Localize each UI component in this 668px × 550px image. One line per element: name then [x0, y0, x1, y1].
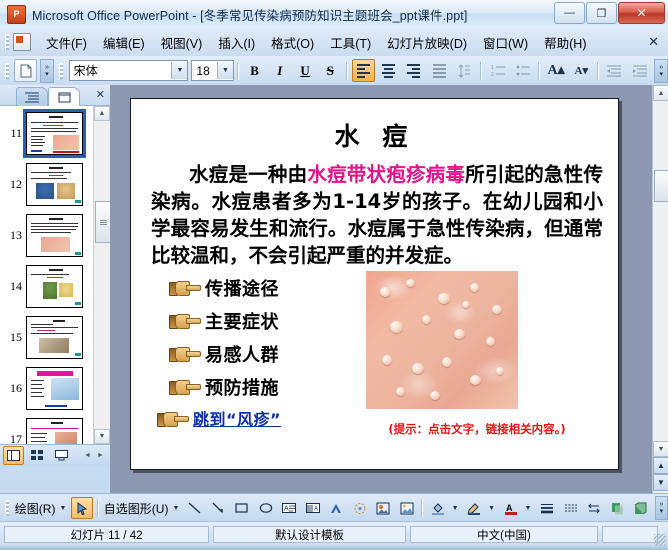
font-size-combobox[interactable]: 18 ▼	[191, 60, 234, 81]
arrow-style-tool[interactable]	[583, 497, 604, 519]
pane-scroll-up-button[interactable]: ▲	[94, 106, 110, 121]
rectangle-icon	[235, 502, 249, 514]
pane-scroll-left-button[interactable]: ◄	[81, 449, 94, 463]
wordart-icon	[329, 502, 343, 515]
drawbar-grip-handle[interactable]	[5, 500, 9, 516]
text-box-tool[interactable]: A	[278, 497, 299, 519]
insert-picture-tool[interactable]	[396, 497, 417, 519]
thumbnail-slide-15[interactable]	[26, 316, 83, 359]
line-style-tool[interactable]	[536, 497, 557, 519]
line-tool[interactable]	[184, 497, 205, 519]
slide-sorter-view-button[interactable]	[27, 446, 48, 465]
bulleted-list-icon	[516, 64, 530, 77]
vertical-text-box-icon: A	[306, 502, 320, 514]
dash-style-icon	[564, 502, 578, 514]
line-style-icon	[540, 502, 554, 514]
decrease-indent-icon	[607, 65, 621, 77]
align-right-icon	[407, 64, 420, 78]
resize-grip[interactable]	[654, 534, 666, 546]
body-text-highlight: 水痘带状疱疹病毒	[307, 163, 465, 186]
thumbnail-row[interactable]: 11	[0, 109, 92, 157]
title-bar: P Microsoft Office PowerPoint - [冬季常见传染病…	[0, 0, 668, 29]
thumbnail-number: 17	[0, 432, 26, 445]
slide-title[interactable]: 水 痘	[131, 117, 618, 153]
numbered-list-icon: 12	[491, 64, 505, 77]
thumbnail-row[interactable]: 16	[0, 364, 92, 412]
increase-font-size-button[interactable]: A▴	[544, 59, 567, 82]
thumbnail-number: 16	[0, 381, 26, 396]
align-right-button[interactable]	[402, 59, 425, 82]
window-controls: — ❐ ✕	[554, 2, 665, 24]
thumbnail-slide-16[interactable]	[26, 367, 83, 410]
decrease-font-icon: A▾	[575, 64, 588, 77]
svg-text:2: 2	[491, 72, 494, 77]
view-buttons-bar: ◄ ►	[0, 444, 110, 466]
slide-sorter-icon	[31, 450, 44, 461]
normal-view-icon	[7, 450, 20, 461]
oval-icon	[259, 502, 273, 514]
autoshapes-caret-icon[interactable]: ▼	[172, 505, 179, 512]
toolbar-separator-1	[237, 62, 239, 80]
menu-view[interactable]: 视图(V)	[154, 30, 210, 55]
bullet-list: 传播途径 主要症状 易感人群 预防措施 跳到“风疹”	[169, 271, 344, 433]
formatting-toolbar: »▾ 宋体 ▼ 18 ▼ B I U S	[0, 56, 668, 86]
clipart-icon	[376, 502, 390, 515]
toolbar-grip-handle-1[interactable]	[5, 63, 9, 79]
pointing-hand-icon	[157, 411, 187, 426]
select-arrow-tool[interactable]	[71, 497, 92, 519]
font-color-tool[interactable]: A	[500, 497, 521, 519]
toolbar-separator-3	[480, 62, 482, 80]
chickenpox-skin-photo[interactable]	[366, 271, 518, 409]
outline-tab[interactable]	[16, 87, 48, 106]
shadow-style-icon	[611, 502, 625, 515]
powerpoint-window: P Microsoft Office PowerPoint - [冬季常见传染病…	[0, 0, 668, 550]
3d-style-tool[interactable]	[630, 497, 651, 519]
menu-grip-handle[interactable]	[5, 34, 9, 50]
arrow-style-icon	[587, 502, 601, 514]
drawbar-overflow-button[interactable]: »▾	[655, 496, 668, 520]
thumbnail-slide-17[interactable]	[26, 418, 83, 445]
powerpoint-icon: P	[7, 5, 26, 24]
font-color-icon: A	[504, 502, 518, 515]
bullet-prevention[interactable]: 预防措施	[169, 370, 344, 403]
font-size-dropdown-icon[interactable]: ▼	[217, 62, 233, 79]
bullet-label: 易感人群	[205, 341, 279, 367]
close-button[interactable]: ✕	[618, 2, 665, 24]
pointing-hand-icon	[169, 313, 199, 328]
diagram-icon	[353, 502, 367, 515]
line-icon	[188, 501, 202, 515]
slide-workspace: 水 痘 水痘是一种由水痘带状疱疹病毒所引起的急性传染病。水痘患者多为1-14岁的…	[110, 85, 652, 493]
line-color-icon	[467, 502, 481, 515]
toolbar-separator-2	[346, 62, 348, 80]
align-left-icon	[357, 64, 370, 78]
menu-format[interactable]: 格式(O)	[264, 30, 321, 55]
draw-menu-button[interactable]: 绘图(R)	[13, 500, 58, 517]
bullet-label: 传播途径	[205, 275, 279, 301]
arrow-tool[interactable]	[208, 497, 229, 519]
bullet-symptoms[interactable]: 主要症状	[169, 304, 344, 337]
pointing-hand-icon	[169, 346, 199, 361]
pane-scroll-thumb[interactable]	[95, 201, 111, 243]
scroll-down-button[interactable]: ▼	[653, 441, 668, 457]
menu-insert[interactable]: 插入(I)	[211, 30, 262, 55]
align-center-icon	[382, 64, 395, 78]
bullet-transmission[interactable]: 传播途径	[169, 271, 344, 304]
bulleted-list-button[interactable]	[511, 59, 534, 82]
pane-tab-strip: ✕	[0, 85, 110, 106]
align-center-button[interactable]	[377, 59, 400, 82]
thumbnail-slide-14[interactable]	[26, 265, 83, 308]
bold-button[interactable]: B	[243, 59, 266, 82]
thumbnail-row[interactable]: 13	[0, 211, 92, 259]
slide-body-text[interactable]: 水痘是一种由水痘带状疱疹病毒所引起的急性传染病。水痘患者多为1-14岁的孩子。在…	[151, 161, 603, 269]
thumbnail-number: 11	[0, 126, 26, 141]
thumbnail-number: 13	[0, 228, 26, 243]
underline-icon: U	[300, 63, 309, 79]
outline-icon	[25, 92, 39, 103]
decrease-font-size-button[interactable]: A▾	[570, 59, 593, 82]
dash-style-tool[interactable]	[560, 497, 581, 519]
toolbar-separator-5	[597, 62, 599, 80]
status-bar: 幻灯片 11 / 42 默认设计模板 中文(中国)	[0, 521, 668, 547]
thumbnail-number: 12	[0, 177, 26, 192]
insert-clipart-tool[interactable]	[372, 497, 393, 519]
thumbnail-number: 14	[0, 279, 26, 294]
svg-text:1: 1	[491, 65, 494, 71]
close-pane-button[interactable]: ✕	[96, 88, 105, 101]
slides-icon	[58, 92, 71, 103]
underline-button[interactable]: U	[293, 59, 316, 82]
decrease-indent-button[interactable]	[603, 59, 626, 82]
pointing-hand-icon	[169, 379, 199, 394]
menu-file[interactable]: 文件(F)	[39, 30, 94, 55]
font-name-dropdown-icon[interactable]: ▼	[171, 62, 187, 79]
menu-help[interactable]: 帮助(H)	[537, 30, 593, 55]
text-box-icon: A	[282, 502, 296, 514]
window-title: Microsoft Office PowerPoint - [冬季常见传染病预防…	[32, 5, 467, 24]
slide-canvas[interactable]: 水 痘 水痘是一种由水痘带状疱疹病毒所引起的急性传染病。水痘患者多为1-14岁的…	[130, 98, 619, 470]
pane-scrollbar[interactable]: ▲ ▼	[93, 106, 110, 444]
toolbar-overflow-button-1[interactable]: »▾	[40, 59, 54, 83]
draw-menu-caret-icon[interactable]: ▼	[59, 505, 66, 512]
align-left-button[interactable]	[352, 59, 375, 82]
text-shadow-button[interactable]: S	[319, 59, 342, 82]
fill-color-icon	[431, 502, 445, 515]
toolbar-separator-4	[538, 62, 540, 80]
thumbnail-slide-11[interactable]	[26, 112, 83, 155]
justify-button[interactable]	[428, 59, 451, 82]
increase-font-icon: A▴	[547, 62, 564, 79]
window-bottom-frame	[0, 546, 668, 550]
font-name-combobox[interactable]: 宋体 ▼	[69, 60, 189, 81]
toolbar-overflow-button-2[interactable]: »▾	[654, 59, 668, 83]
fill-color-tool[interactable]	[427, 497, 448, 519]
picture-icon	[400, 502, 414, 515]
bullet-label: 主要症状	[205, 308, 279, 334]
thumbnail-number: 15	[0, 330, 26, 345]
toolbar-grip-handle-2[interactable]	[59, 63, 63, 79]
svg-text:A: A	[506, 503, 513, 513]
body-text-part1: 水痘是一种由	[189, 163, 307, 186]
menu-bar: 文件(F) 编辑(E) 视图(V) 插入(I) 格式(O) 工具(T) 幻灯片放…	[0, 28, 668, 57]
justify-icon	[433, 64, 446, 78]
oval-tool[interactable]	[255, 497, 276, 519]
scroll-up-button[interactable]: ▲	[653, 85, 668, 101]
italic-icon: I	[277, 63, 282, 79]
font-color-caret-icon[interactable]: ▼	[525, 505, 532, 512]
bullet-label: 预防措施	[205, 374, 279, 400]
bullet-susceptible[interactable]: 易感人群	[169, 337, 344, 370]
menu-window[interactable]: 窗口(W)	[476, 30, 535, 55]
slide-counter: 幻灯片 11 / 42	[4, 526, 209, 543]
slide-vertical-scrollbar[interactable]: ▲ ▼ ▲ ▼	[652, 85, 668, 493]
drawbar-separator-2	[421, 499, 423, 517]
document-icon	[13, 33, 31, 51]
font-name-value: 宋体	[70, 62, 98, 79]
drawing-toolbar: 绘图(R) ▼ 自选图形(U) ▼ A A ▼ ▼ A ▼ »▾	[0, 493, 668, 522]
close-document-button[interactable]: ✕	[648, 34, 659, 50]
line-color-tool[interactable]	[464, 497, 485, 519]
thumbnail-row[interactable]: 15	[0, 313, 92, 361]
maximize-button[interactable]: ❐	[586, 2, 617, 24]
italic-button[interactable]: I	[268, 59, 291, 82]
pointing-hand-icon	[169, 280, 199, 295]
shadow-icon: S	[327, 63, 334, 79]
previous-slide-button[interactable]: ▲	[653, 457, 668, 474]
slide-show-icon	[55, 450, 68, 461]
autoshapes-menu-button[interactable]: 自选图形(U)	[102, 500, 171, 517]
new-slide-icon[interactable]	[14, 59, 37, 82]
increase-indent-button[interactable]	[628, 59, 651, 82]
insert-wordart-tool[interactable]	[325, 497, 346, 519]
increase-indent-icon	[633, 65, 647, 77]
font-size-value: 18	[192, 64, 209, 78]
thumbnail-slide-13[interactable]	[26, 214, 83, 257]
pane-scroll-right-button[interactable]: ►	[94, 449, 107, 463]
menu-slideshow[interactable]: 幻灯片放映(D)	[380, 30, 474, 55]
thumbnail-row[interactable]: 12	[0, 160, 92, 208]
slide-show-view-button[interactable]	[51, 446, 72, 465]
pane-scroll-down-button[interactable]: ▼	[94, 429, 110, 444]
drawbar-separator-1	[97, 499, 99, 517]
threed-style-icon	[634, 502, 648, 515]
hint-text: (提示：点击文字，链接相关内容。)	[347, 421, 607, 437]
minimize-button[interactable]: —	[554, 2, 585, 24]
menu-tools[interactable]: 工具(T)	[323, 30, 378, 55]
line-spacing-button[interactable]	[453, 59, 476, 82]
fill-color-caret-icon[interactable]: ▼	[452, 505, 459, 512]
scroll-thumb[interactable]	[654, 170, 668, 202]
line-spacing-icon	[457, 64, 471, 78]
numbered-list-button[interactable]: 12	[486, 59, 509, 82]
rectangle-tool[interactable]	[231, 497, 252, 519]
spell-check-cell	[602, 526, 658, 543]
slides-pane: ✕ 11	[0, 85, 111, 465]
jump-link-label: 跳到“风疹”	[193, 406, 281, 430]
slides-tab[interactable]	[48, 87, 80, 106]
vertical-text-box-tool[interactable]: A	[302, 497, 323, 519]
thumbnail-list[interactable]: 11 12	[0, 106, 92, 444]
menu-edit[interactable]: 编辑(E)	[96, 30, 152, 55]
bold-icon: B	[250, 63, 259, 79]
line-color-caret-icon[interactable]: ▼	[488, 505, 495, 512]
cursor-arrow-icon	[77, 502, 88, 515]
normal-view-button[interactable]	[3, 446, 24, 465]
svg-text:A: A	[284, 506, 289, 513]
svg-text:A: A	[314, 507, 318, 513]
jump-to-rubella-link[interactable]: 跳到“风疹”	[157, 403, 344, 433]
language-label[interactable]: 中文(中国)	[410, 526, 598, 543]
next-slide-button[interactable]: ▼	[653, 474, 668, 491]
thumbnail-row[interactable]: 17	[0, 415, 92, 444]
shadow-style-tool[interactable]	[607, 497, 628, 519]
design-template-label[interactable]: 默认设计模板	[213, 526, 406, 543]
arrow-icon	[212, 501, 226, 515]
thumbnail-row[interactable]: 14	[0, 262, 92, 310]
thumbnail-slide-12[interactable]	[26, 163, 83, 206]
insert-diagram-tool[interactable]	[349, 497, 370, 519]
